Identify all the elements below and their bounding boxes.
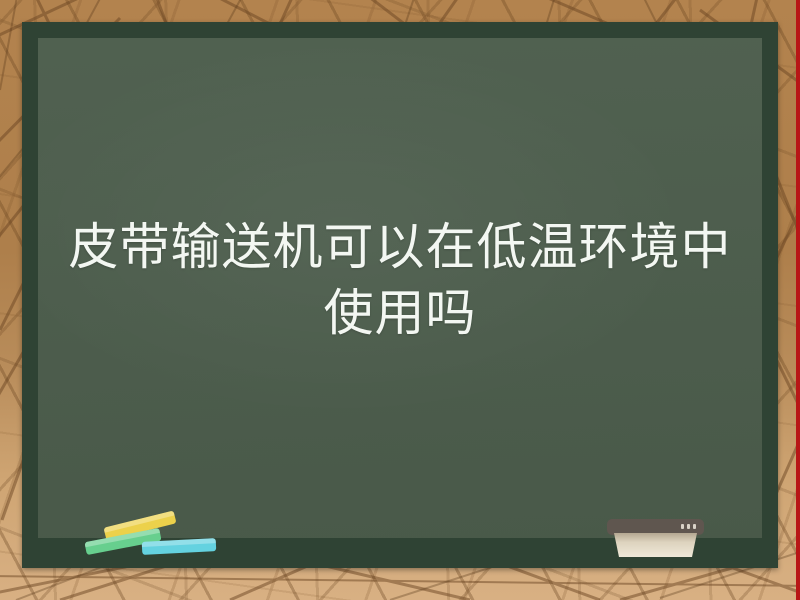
board-headline: 皮带输送机可以在低温环境中使用吗 bbox=[38, 214, 762, 346]
board-eraser[interactable] bbox=[607, 519, 704, 557]
blackboard-surface: 皮带输送机可以在低温环境中使用吗 bbox=[38, 38, 762, 538]
eraser-dot bbox=[693, 524, 696, 529]
blackboard-scene: 皮带输送机可以在低温环境中使用吗 bbox=[0, 0, 800, 600]
eraser-felt bbox=[614, 533, 697, 557]
eraser-dots bbox=[681, 524, 696, 529]
blackboard-frame: 皮带输送机可以在低温环境中使用吗 bbox=[22, 22, 778, 568]
right-edge-stripe bbox=[796, 0, 800, 600]
chalk-cyan[interactable] bbox=[142, 538, 217, 555]
eraser-dot bbox=[681, 524, 684, 529]
eraser-handle bbox=[607, 519, 704, 535]
eraser-dot bbox=[687, 524, 690, 529]
